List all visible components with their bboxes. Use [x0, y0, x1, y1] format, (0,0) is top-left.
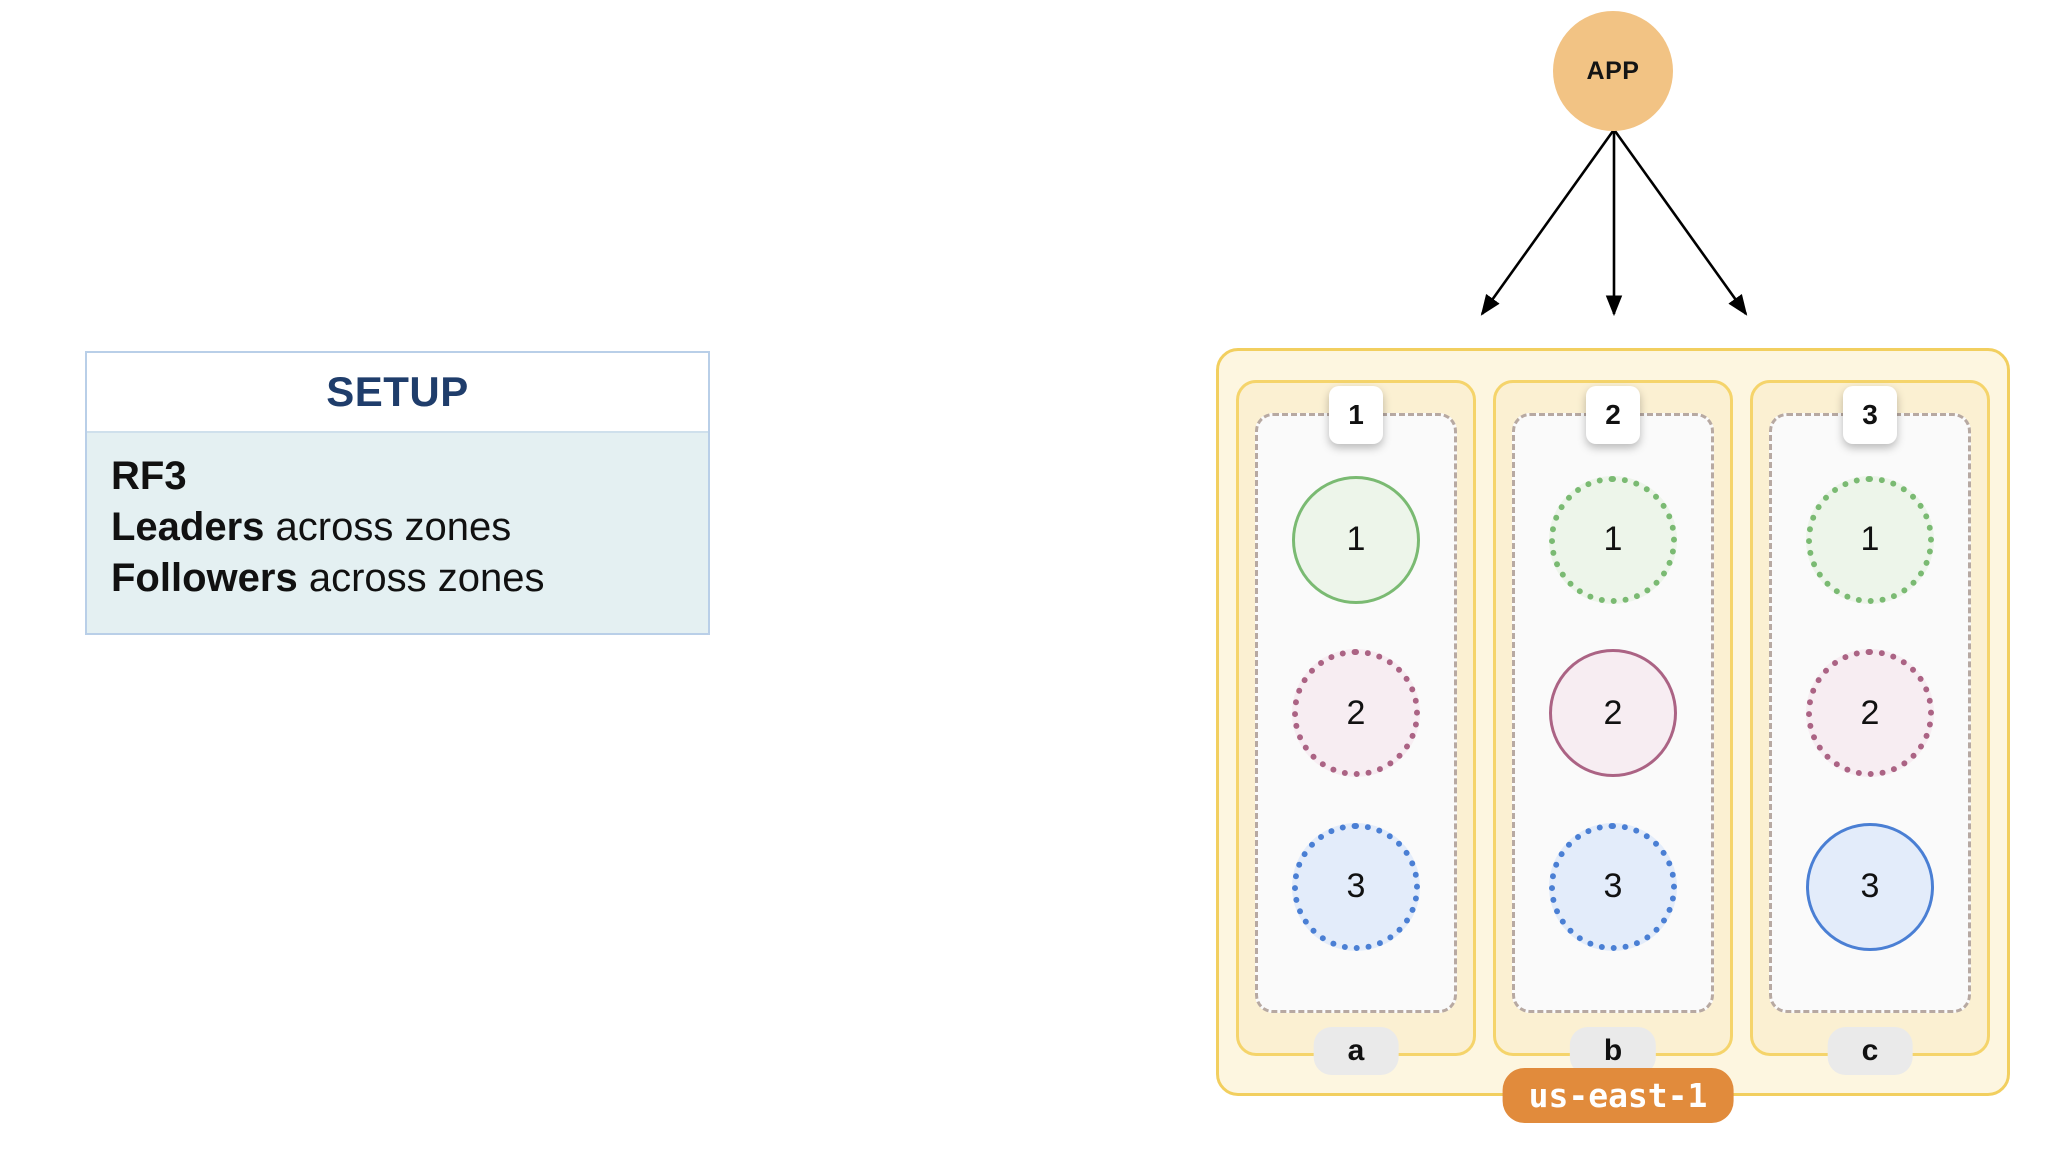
zone-box-c: 3 1 2 3 c	[1750, 380, 1990, 1056]
replica-a-2: 2	[1292, 649, 1420, 777]
setup-line: RF3	[111, 451, 684, 502]
replica-a-3: 3	[1292, 823, 1420, 951]
setup-line-text: across zones	[298, 556, 545, 600]
setup-line-keyword: Leaders	[111, 505, 264, 549]
zone-badge-a: 1	[1329, 386, 1383, 444]
replica-b-3: 3	[1549, 823, 1677, 951]
zone-label-c: c	[1828, 1027, 1913, 1075]
setup-panel-header: SETUP	[87, 353, 708, 431]
zone-inner-c: 3 1 2 3	[1769, 413, 1971, 1013]
zone-badge-b: 2	[1586, 386, 1640, 444]
zone-box-b: 2 1 2 3 b	[1493, 380, 1733, 1056]
setup-line: Followers across zones	[111, 553, 684, 604]
zone-inner-b: 2 1 2 3	[1512, 413, 1714, 1013]
replica-b-2: 2	[1549, 649, 1677, 777]
replica-c-2: 2	[1806, 649, 1934, 777]
app-node-label: APP	[1587, 57, 1640, 86]
zones-row: 1 1 2 3 a 2 1 2 3 b 3 1 2 3	[1216, 348, 2010, 1096]
setup-panel-body: RF3 Leaders across zones Followers acros…	[87, 431, 708, 633]
replica-a-1: 1	[1292, 476, 1420, 604]
replica-c-1: 1	[1806, 476, 1934, 604]
zone-box-a: 1 1 2 3 a	[1236, 380, 1476, 1056]
app-node: APP	[1553, 11, 1673, 131]
replica-c-3: 3	[1806, 823, 1934, 951]
setup-line: Leaders across zones	[111, 502, 684, 553]
replica-b-1: 1	[1549, 476, 1677, 604]
zone-label-a: a	[1314, 1027, 1399, 1075]
zone-inner-a: 1 1 2 3	[1255, 413, 1457, 1013]
arrow-to-zone-a	[1482, 131, 1613, 314]
zone-badge-c: 3	[1843, 386, 1897, 444]
setup-line-text: across zones	[264, 505, 511, 549]
setup-panel: SETUP RF3 Leaders across zones Followers…	[85, 351, 710, 635]
page-title: SETUP	[326, 368, 469, 416]
setup-line-keyword: RF3	[111, 454, 187, 498]
architecture-diagram: APP 1 1 2 3 a 2 1 2	[1180, 0, 2056, 1164]
setup-line-keyword: Followers	[111, 556, 298, 600]
region-label: us-east-1	[1503, 1068, 1734, 1123]
arrow-to-zone-c	[1615, 131, 1746, 314]
